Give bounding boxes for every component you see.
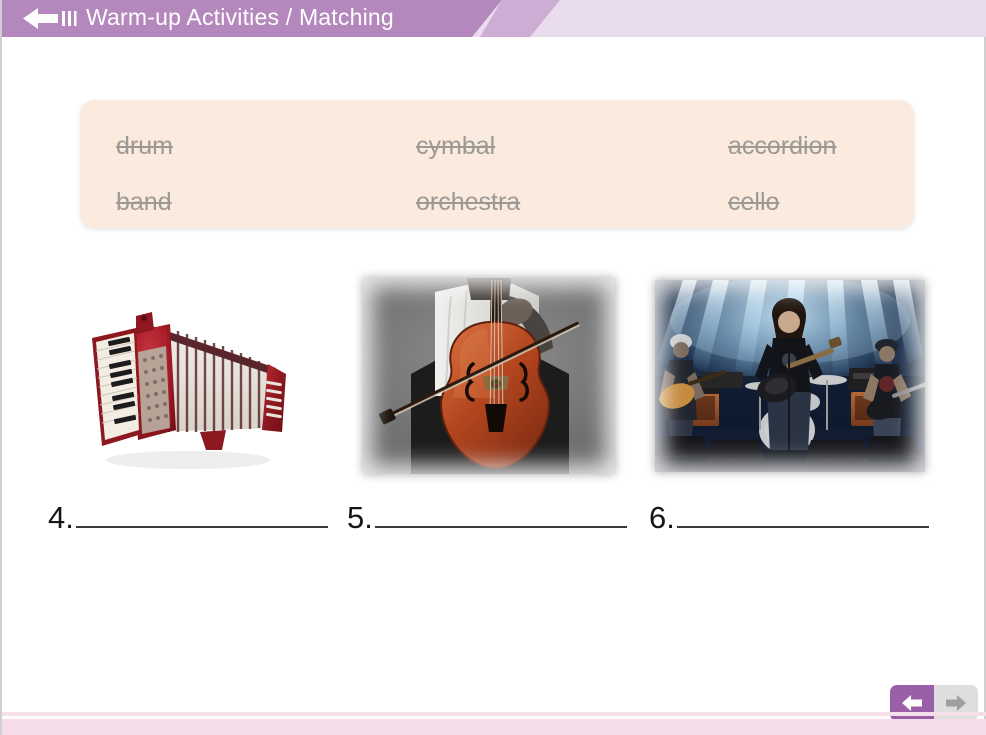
word-bank-item[interactable]: accordion <box>728 132 906 161</box>
word-bank-item[interactable]: cello <box>728 188 906 217</box>
cello-image <box>363 278 615 474</box>
word-bank-item[interactable]: cymbal <box>416 132 728 161</box>
word-bank: drum cymbal accordion band orchestra cel… <box>80 100 914 228</box>
answer-item-4: 4. <box>48 498 328 540</box>
footer-bar <box>2 719 986 735</box>
band-photo[interactable] <box>655 280 925 472</box>
answer-blank-4[interactable] <box>76 498 328 528</box>
answer-number: 5. <box>347 502 373 533</box>
cello-photo[interactable] <box>363 278 615 474</box>
answer-item-5: 5. <box>347 498 627 540</box>
slide-page: Warm-up Activities / Matching drum cymba… <box>0 0 986 735</box>
answer-blank-6[interactable] <box>677 498 929 528</box>
answer-blank-5[interactable] <box>375 498 627 528</box>
arrow-right-icon <box>944 693 968 713</box>
accordion-image <box>80 282 296 478</box>
answer-number: 6. <box>649 502 675 533</box>
answer-number: 4. <box>48 502 74 533</box>
arrow-left-icon <box>900 693 924 713</box>
band-image <box>655 280 925 472</box>
page-header: Warm-up Activities / Matching <box>2 0 986 37</box>
word-bank-grid: drum cymbal accordion band orchestra cel… <box>116 118 906 230</box>
page-title: Warm-up Activities / Matching <box>86 4 394 31</box>
word-bank-item[interactable]: band <box>116 188 416 217</box>
back-arrow-icon[interactable] <box>22 6 78 31</box>
answer-row: 4. 5. 6. <box>2 498 986 544</box>
figure-row <box>2 276 986 486</box>
footer-divider <box>2 712 986 716</box>
accordion-photo[interactable] <box>80 282 296 478</box>
word-bank-item[interactable]: drum <box>116 132 416 161</box>
word-bank-item[interactable]: orchestra <box>416 188 728 217</box>
answer-item-6: 6. <box>649 498 929 540</box>
